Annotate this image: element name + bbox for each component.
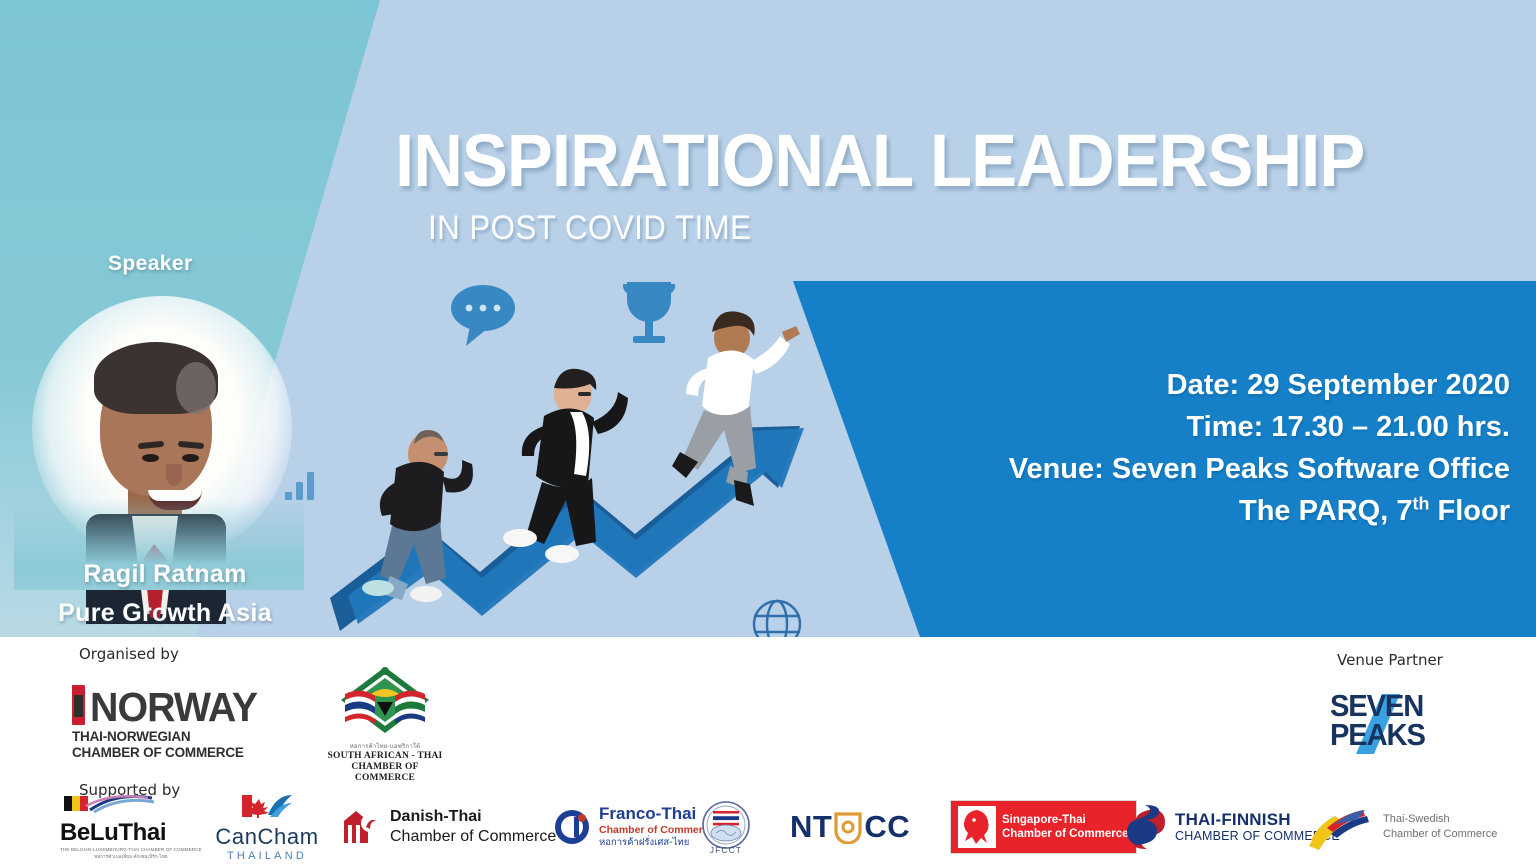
singapore-thai-text: Singapore-Thai Chamber of Commerce: [1002, 813, 1129, 842]
inorway-subtitle: THAI-NORWEGIAN CHAMBER OF COMMERCE: [72, 729, 264, 760]
thai-swedish-line2: Chamber of Commerce: [1383, 827, 1497, 842]
cancham-flag-icon: [212, 793, 322, 819]
south-african-thai-line1: SOUTH AFRICAN - THAI: [325, 751, 445, 762]
portrait-brow-left: [138, 441, 164, 450]
venue-floor-ordinal: th: [1412, 493, 1429, 513]
speaker-label: Speaker: [108, 252, 193, 276]
singapore-thai-box: Singapore-Thai Chamber of Commerce: [950, 800, 1137, 854]
illustration: [330, 276, 950, 637]
organised-by-caption: Organised by: [79, 645, 179, 663]
cancham-thailand-logo: CanCham THAILAND: [212, 795, 322, 859]
event-date: Date: 29 September 2020: [1009, 364, 1510, 406]
south-african-thai-logo: หอการค้าไทย-แอฟริกาใต้ SOUTH AFRICAN - T…: [325, 664, 445, 785]
beluthai-fine1: THE BELGIAN-LUXEMBOURG-THAI CHAMBER OF C…: [60, 847, 202, 853]
ntcc-shield-icon: [832, 810, 864, 844]
franco-thai-logo: Franco-Thai Chamber of Commerce หอการค้า…: [552, 795, 715, 859]
globe-icon: [754, 601, 800, 637]
ntcc-word-post: CC: [864, 809, 910, 845]
singapore-thai-logo: Singapore-Thai Chamber of Commerce: [950, 795, 1137, 859]
inorway-sub-line1: THAI-NORWEGIAN: [72, 729, 264, 745]
speaker-name: Ragil Ratnam: [0, 560, 330, 589]
thai-swedish-line1: Thai-Swedish: [1383, 812, 1497, 827]
seven-peaks-line2: PEAKS: [1330, 721, 1425, 750]
portrait-brow-right: [178, 441, 204, 449]
seven-peaks-logo: SEVEN PEAKS: [1330, 692, 1431, 749]
thai-finnish-mark-icon: [1125, 805, 1167, 849]
franco-thai-mark-icon: [552, 807, 592, 847]
beluthai-wave-icon: [60, 794, 180, 814]
hero-banner: INSPIRATIONAL LEADERSHIP IN POST COVID T…: [0, 0, 1536, 637]
event-time: Time: 17.30 – 21.00 hrs.: [1009, 406, 1510, 448]
page-subtitle: IN POST COVID TIME: [428, 211, 751, 245]
portrait-nose: [166, 464, 182, 486]
south-african-thai-thai-text: หอการค้าไทย-แอฟริกาใต้: [325, 741, 445, 751]
inorway-i-icon: [72, 685, 85, 725]
event-details: Date: 29 September 2020 Time: 17.30 – 21…: [1009, 364, 1510, 532]
cancham-word: CanCham: [212, 824, 322, 850]
venue-floor-pre: The PARQ, 7: [1239, 495, 1413, 527]
jfcct-word: JFCCT: [710, 846, 742, 855]
jfcct-badge-icon: JFCCT: [696, 797, 756, 857]
ntcc-word-pre: NT: [790, 809, 832, 845]
event-venue-floor: The PARQ, 7th Floor: [1009, 490, 1510, 532]
inorway-sub-line2: CHAMBER OF COMMERCE: [72, 745, 264, 761]
danish-thai-mark-icon: [338, 805, 382, 849]
event-poster: INSPIRATIONAL LEADERSHIP IN POST COVID T…: [0, 0, 1536, 868]
singapore-thai-line2: Chamber of Commerce: [1002, 827, 1129, 841]
portrait-eye-right: [182, 454, 199, 462]
inorway-word: NORWAY: [90, 691, 257, 725]
south-african-thai-emblem: [325, 664, 445, 736]
thai-swedish-mark-icon: [1305, 802, 1377, 852]
south-african-thai-line2: CHAMBER OF COMMERCE: [325, 762, 445, 784]
thai-swedish-logo: Thai-Swedish Chamber of Commerce: [1305, 795, 1497, 859]
bar-chart-icon: [285, 470, 325, 505]
cancham-subtitle: THAILAND: [212, 850, 322, 862]
page-title: INSPIRATIONAL LEADERSHIP: [395, 124, 1364, 198]
danish-thai-logo: Danish-Thai Chamber of Commerce: [338, 795, 556, 859]
danish-thai-line1: Danish-Thai: [390, 807, 556, 827]
beluthai-fine2: หอการค้าเบลเยียม-ลักเซมเบิร์ก-ไทย: [60, 854, 202, 860]
singapore-thai-line1: Singapore-Thai: [1002, 813, 1129, 827]
jfcct-logo: JFCCT: [696, 795, 756, 859]
portrait-hair-grey: [176, 362, 216, 414]
supporter-logos: BeLuThai THE BELGIAN-LUXEMBOURG-THAI CHA…: [60, 795, 1530, 859]
speaker-portrait: [14, 288, 304, 588]
inorway-logo: NORWAY THAI-NORWEGIAN CHAMBER OF COMMERC…: [72, 685, 264, 760]
singapore-thai-lion-icon: [958, 806, 996, 848]
inorway-wordmark: NORWAY: [72, 685, 264, 725]
ntcc-logo: NT CC: [790, 795, 910, 859]
beluthai-logo: BeLuThai THE BELGIAN-LUXEMBOURG-THAI CHA…: [60, 795, 202, 859]
trophy-icon: [623, 282, 675, 343]
portrait-eye-left: [142, 454, 159, 462]
speaker-organisation: Pure Growth Asia: [0, 599, 330, 628]
venue-floor-post: Floor: [1429, 495, 1510, 527]
beluthai-word: BeLuThai: [60, 819, 202, 847]
speech-bubble-icon: [451, 285, 515, 346]
danish-thai-line2: Chamber of Commerce: [390, 827, 556, 847]
event-venue: Venue: Seven Peaks Software Office: [1009, 448, 1510, 490]
venue-partner-caption: Venue Partner: [1337, 651, 1443, 669]
